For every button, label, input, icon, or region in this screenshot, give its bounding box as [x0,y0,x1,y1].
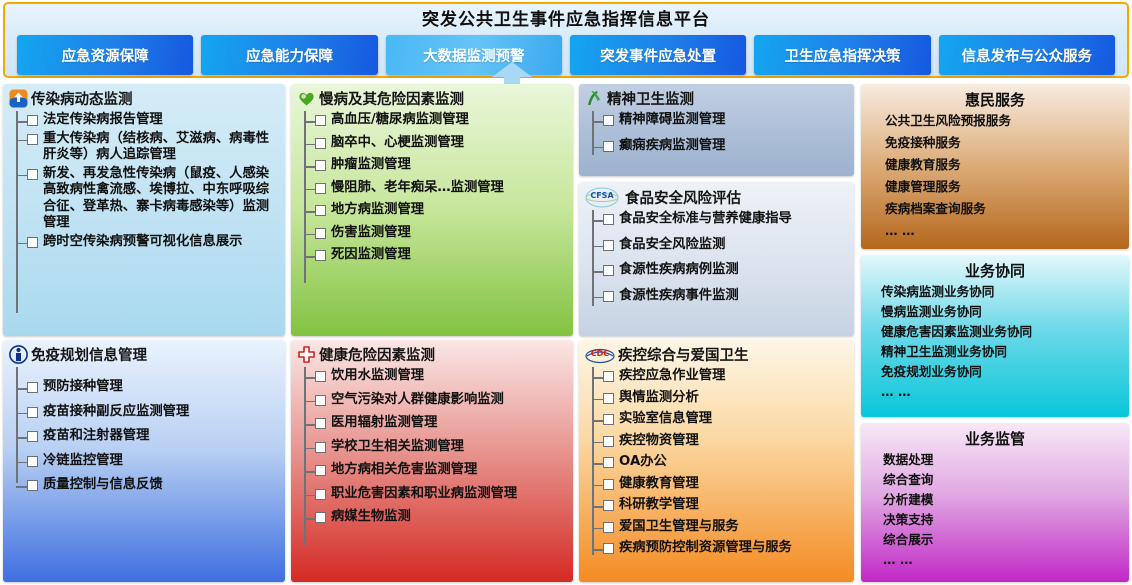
checkbox[interactable] [603,371,614,382]
tree-branch [304,144,315,146]
tree-node-immune-1[interactable]: 疫苗接种副反应监测管理 [13,404,281,421]
tree-branch [304,471,315,473]
tree-node-infectious-3[interactable]: 跨时空传染病预警可视化信息展示 [13,234,281,251]
tree-node-food-2[interactable]: 食源性疾病病例监测 [589,262,850,279]
tree-node-chronic-3[interactable]: 慢阻肺、老年痴呆…监测管理 [301,180,569,197]
panel-cdc-header: CDC 疾控综合与爱国卫生 [579,340,854,367]
panel-food-header: CFSA 食品安全风险评估 [579,182,854,210]
tree-node-risk-4[interactable]: 地方病相关危害监测管理 [301,462,569,479]
tree-branch [592,442,603,444]
panel-risk-tree: 饮用水监测管理 空气污染对人群健康影响监测 医用辐射监测管理 学校卫生相关监测管… [291,367,573,532]
tree-branch [592,485,603,487]
list-item[interactable]: 免疫接种服务 [885,135,1129,150]
checkbox[interactable] [315,489,326,500]
tree-node-cdc-7[interactable]: 爱国卫生管理与服务 [589,519,850,536]
tree-branch [16,243,27,245]
tree-node-cdc-0[interactable]: 疾控应急作业管理 [589,368,850,385]
tree-node-label: 预防接种管理 [43,379,123,396]
panel-infectious-title: 传染病动态监测 [31,88,133,109]
checkbox[interactable] [27,480,38,491]
tree-branch [304,424,315,426]
tree-node-label: 肿瘤监测管理 [331,157,411,174]
checkbox[interactable] [603,522,614,533]
list-item[interactable]: 综合展示 [883,532,1129,547]
tree-node-label: 空气污染对人群健康影响监测 [331,392,504,409]
panel-risk-header: 健康危险因素监测 [291,340,573,367]
list-item-ellipsis: … … [883,552,1129,567]
checkbox[interactable] [27,431,38,442]
tree-branch [16,413,27,415]
panel-collab-title: 业务协同 [861,255,1129,284]
tree-node-label: OA办公 [619,454,667,471]
checkbox[interactable] [315,512,326,523]
panel-risk-title: 健康危险因素监测 [319,344,435,365]
tree-node-label: 地方病相关危害监测管理 [331,462,477,479]
checkbox[interactable] [603,141,614,152]
checkbox[interactable] [603,479,614,490]
tree-node-label: 实验室信息管理 [619,411,712,428]
tree-branch [304,234,315,236]
tree-node-chronic-1[interactable]: 脑卒中、心梗监测管理 [301,135,569,152]
checkbox[interactable] [315,183,326,194]
tree-node-label: 慢阻肺、老年痴呆…监测管理 [331,180,504,197]
panel-supervise-list: 数据处理 综合查询 分析建模 决策支持 综合展示 … … [861,452,1129,567]
checkbox[interactable] [603,500,614,511]
tree-node-cdc-4[interactable]: OA办公 [589,454,850,471]
checkbox[interactable] [27,115,38,126]
tree-node-label: 疫苗和注射器管理 [43,428,149,445]
panel-immunization-information-management[interactable]: 免疫规划信息管理 预防接种管理 疫苗接种副反应监测管理 疫苗和注射器管理 [3,340,285,582]
tree-branch [592,528,603,530]
tab-info-publish-public-service[interactable]: 信息发布与公众服务 [939,35,1115,75]
tree-node-label: 新发、再发急性传染病（鼠疫、人感染高致病性禽流感、埃博拉、中东呼吸综合征、登革热… [43,166,281,232]
tree-branch [592,271,603,273]
panel-business-collaboration[interactable]: 业务协同 传染病监测业务协同 慢病监测业务协同 健康危害因素监测业务协同 精神卫… [861,255,1129,417]
panel-mental-header: 精神卫生监测 [579,84,854,111]
tree-node-infectious-2[interactable]: 新发、再发急性传染病（鼠疫、人感染高致病性禽流感、埃博拉、中东呼吸综合征、登革热… [13,166,281,232]
tree-branch [304,121,315,123]
panel-food-safety-risk-assessment[interactable]: CFSA 食品安全风险评估 食品安全标准与营养健康指导 食品安全风险监测 [579,182,854,336]
tree-node-label: 食源性疾病事件监测 [619,288,739,305]
tree-node-cdc-3[interactable]: 疾控物资管理 [589,433,850,450]
tree-branch [304,518,315,520]
tree-branch [592,463,603,465]
tree-branch [304,448,315,450]
tree-node-cdc-1[interactable]: 舆情监测分析 [589,390,850,407]
tree-node-label: 脑卒中、心梗监测管理 [331,135,464,152]
tree-branch [304,166,315,168]
checkbox[interactable] [27,134,38,145]
tree-branch [16,486,27,488]
list-item[interactable]: 慢病监测业务协同 [881,304,1129,319]
list-item[interactable]: 免疫规划业务协同 [881,364,1129,379]
checkbox[interactable] [603,240,614,251]
page-title: 突发公共卫生事件应急指挥信息平台 [5,4,1127,31]
checkbox[interactable] [27,382,38,393]
green-ribbon-icon [585,89,604,108]
tree-node-label: 精神障碍监测管理 [619,112,725,129]
checkbox[interactable] [315,115,326,126]
tree-node-cdc-8[interactable]: 疾病预防控制资源管理与服务 [589,540,850,557]
tree-branch [16,175,27,177]
list-item[interactable]: 数据处理 [883,452,1129,467]
checkbox[interactable] [315,442,326,453]
list-item[interactable]: 健康教育服务 [885,157,1129,172]
list-item[interactable]: 综合查询 [883,472,1129,487]
tree-node-risk-0[interactable]: 饮用水监测管理 [301,368,569,385]
tree-branch [592,506,603,508]
tree-node-chronic-4[interactable]: 地方病监测管理 [301,202,569,219]
tree-node-label: 职业危害因素和职业病监测管理 [331,486,517,503]
tree-node-risk-1[interactable]: 空气污染对人群健康影响监测 [301,392,569,409]
tab-emergency-resource[interactable]: 应急资源保障 [17,35,193,75]
tree-node-label: 癫痫疾病监测管理 [619,138,725,155]
public-health-emergency-platform: 突发公共卫生事件应急指挥信息平台 应急资源保障 应急能力保障 大数据监测预警 突… [0,0,1132,585]
panel-chronic-header: 慢病及其危险因素监测 [291,84,573,111]
tree-branch [592,377,603,379]
up-arrow-badge-icon [9,89,28,108]
tree-node-risk-6[interactable]: 病媒生物监测 [301,509,569,526]
tab-incident-response[interactable]: 突发事件应急处置 [570,35,746,75]
tree-node-food-3[interactable]: 食源性疾病事件监测 [589,288,850,305]
tree-branch [16,121,27,123]
checkbox[interactable] [603,115,614,126]
tree-node-infectious-1[interactable]: 重大传染病（结核病、艾滋病、病毒性肝炎等）病人追踪管理 [13,131,281,164]
panel-infectious-disease-monitoring[interactable]: 传染病动态监测 法定传染病报告管理 重大传染病（结核病、艾滋病、病毒性肝炎等）病… [3,84,285,336]
tree-node-infectious-0[interactable]: 法定传染病报告管理 [13,112,281,129]
panel-food-tree: 食品安全标准与营养健康指导 食品安全风险监测 食源性疾病病例监测 食源性疾病事件… [579,210,854,310]
tree-node-label: 食品安全风险监测 [619,237,725,254]
tree-node-label: 跨时空传染病预警可视化信息展示 [43,234,242,251]
cfsa-logo-text: CFSA [590,191,614,200]
list-item-ellipsis: … … [881,384,1129,399]
panel-mental-tree: 精神障碍监测管理 癫痫疾病监测管理 [579,111,854,160]
cfsa-logo-icon: CFSA [585,187,619,208]
tree-node-mental-0[interactable]: 精神障碍监测管理 [589,112,850,129]
panel-supervise-title: 业务监管 [861,423,1129,452]
list-item[interactable]: 疾病档案查询服务 [885,201,1129,216]
panel-cdc-title: 疾控综合与爱国卫生 [618,344,749,365]
cdc-logo-text: CDC [591,349,610,358]
tree-branch [16,388,27,390]
tree-node-risk-5[interactable]: 职业危害因素和职业病监测管理 [301,486,569,503]
checkbox[interactable] [27,169,38,180]
list-item[interactable]: 公共卫生风险预报服务 [885,113,1129,128]
tree-node-chronic-0[interactable]: 高血压/糖尿病监测管理 [301,112,569,129]
panel-collab-list: 传染病监测业务协同 慢病监测业务协同 健康危害因素监测业务协同 精神卫生监测业务… [861,284,1129,399]
tree-node-food-1[interactable]: 食品安全风险监测 [589,237,850,254]
list-item[interactable]: 健康管理服务 [885,179,1129,194]
tree-node-chronic-2[interactable]: 肿瘤监测管理 [301,157,569,174]
panel-benefit-title: 惠民服务 [861,84,1129,113]
tree-branch [592,121,603,123]
tree-node-label: 疾控物资管理 [619,433,699,450]
tree-branch [592,420,603,422]
panel-immune-tree: 预防接种管理 疫苗接种副反应监测管理 疫苗和注射器管理 冷链监控管理 [3,367,285,500]
tree-node-label: 死因监测管理 [331,247,411,264]
checkbox[interactable] [315,371,326,382]
tree-node-label: 食源性疾病病例监测 [619,262,739,279]
tree-node-cdc-2[interactable]: 实验室信息管理 [589,411,850,428]
panel-chronic-tree: 高血压/糖尿病监测管理 脑卒中、心梗监测管理 肿瘤监测管理 慢阻肺、老年痴呆…监… [291,111,573,270]
list-item[interactable]: 决策支持 [883,512,1129,527]
panel-cdc-comprehensive-patriotic-health[interactable]: CDC 疾控综合与爱国卫生 疾控应急作业管理 舆情监测分析 [579,340,854,582]
tree-node-label: 病媒生物监测 [331,509,411,526]
checkbox[interactable] [315,138,326,149]
tree-node-label: 伤害监测管理 [331,225,411,242]
tree-node-mental-1[interactable]: 癫痫疾病监测管理 [589,138,850,155]
tree-node-cdc-5[interactable]: 健康教育管理 [589,476,850,493]
checkbox[interactable] [603,543,614,554]
tab-bigdata-monitoring-alert[interactable]: 大数据监测预警 [386,35,562,75]
tree-node-label: 法定传染病报告管理 [43,112,163,129]
tree-node-label: 学校卫生相关监测管理 [331,439,464,456]
panel-immune-header: 免疫规划信息管理 [3,340,285,367]
tree-branch [304,256,315,258]
checkbox[interactable] [315,250,326,261]
panel-mental-health-monitoring[interactable]: 精神卫生监测 精神障碍监测管理 癫痫疾病监测管理 [579,84,854,176]
tree-node-chronic-5[interactable]: 伤害监测管理 [301,225,569,242]
list-item[interactable]: 分析建模 [883,492,1129,507]
header-banner: 突发公共卫生事件应急指挥信息平台 应急资源保障 应急能力保障 大数据监测预警 突… [3,2,1129,78]
checkbox[interactable] [315,228,326,239]
tree-node-label: 疾控应急作业管理 [619,368,725,385]
tab-emergency-capability[interactable]: 应急能力保障 [201,35,377,75]
tree-node-risk-2[interactable]: 医用辐射监测管理 [301,415,569,432]
tree-node-label: 质量控制与信息反馈 [43,477,163,494]
checkbox[interactable] [603,414,614,425]
tree-branch [304,189,315,191]
tree-branch [592,147,603,149]
list-item[interactable]: 传染病监测业务协同 [881,284,1129,299]
tree-node-label: 重大传染病（结核病、艾滋病、病毒性肝炎等）病人追踪管理 [43,131,281,164]
main-nav-tabs: 应急资源保障 应急能力保障 大数据监测预警 突发事件应急处置 卫生应急指挥决策 … [5,31,1127,75]
red-cross-icon [297,345,316,364]
panel-mental-title: 精神卫生监测 [607,88,694,109]
checkbox[interactable] [315,465,326,476]
tree-node-cdc-6[interactable]: 科研教学管理 [589,497,850,514]
panel-cdc-tree: 疾控应急作业管理 舆情监测分析 实验室信息管理 疾控物资管理 [579,367,854,563]
checkbox[interactable] [315,205,326,216]
tree-node-label: 科研教学管理 [619,497,699,514]
tree-branch [304,211,315,213]
tree-branch [304,401,315,403]
checkbox[interactable] [27,456,38,467]
panel-benefit-services[interactable]: 惠民服务 公共卫生风险预报服务 免疫接种服务 健康教育服务 健康管理服务 疾病档… [861,84,1129,249]
cdc-logo-icon: CDC [585,345,615,365]
tree-node-label: 高血压/糖尿病监测管理 [331,112,469,129]
panel-chronic-title: 慢病及其危险因素监测 [319,88,464,109]
tree-node-label: 疾病预防控制资源管理与服务 [619,540,792,557]
tree-node-label: 爱国卫生管理与服务 [619,519,739,536]
list-item-ellipsis: … … [885,223,1129,238]
checkbox[interactable] [27,407,38,418]
panel-infectious-header: 传染病动态监测 [3,84,285,111]
checkbox[interactable] [315,160,326,171]
tree-node-label: 健康教育管理 [619,476,699,493]
tree-node-label: 疫苗接种副反应监测管理 [43,404,189,421]
tree-branch [592,297,603,299]
checkbox[interactable] [603,436,614,447]
tree-branch [592,399,603,401]
checkbox[interactable] [603,265,614,276]
tree-branch [592,549,603,551]
tree-branch [16,437,27,439]
module-grid: 传染病动态监测 法定传染病报告管理 重大传染病（结核病、艾滋病、病毒性肝炎等）病… [3,84,1129,582]
tree-node-label: 舆情监测分析 [619,390,699,407]
tree-node-food-0[interactable]: 食品安全标准与营养健康指导 [589,211,850,228]
list-item[interactable]: 精神卫生监测业务协同 [881,344,1129,359]
tree-node-immune-3[interactable]: 冷链监控管理 [13,453,281,470]
tree-node-label: 医用辐射监测管理 [331,415,437,432]
panel-infectious-tree: 法定传染病报告管理 重大传染病（结核病、艾滋病、病毒性肝炎等）病人追踪管理 新发… [3,111,285,256]
list-item[interactable]: 健康危害因素监测业务协同 [881,324,1129,339]
tree-node-immune-2[interactable]: 疫苗和注射器管理 [13,428,281,445]
vaccine-person-icon [9,345,28,364]
tree-branch [592,246,603,248]
panel-immune-title: 免疫规划信息管理 [31,344,147,365]
tree-branch [16,140,27,142]
tree-branch [592,220,603,222]
tree-node-label: 饮用水监测管理 [331,368,424,385]
tab-command-decision[interactable]: 卫生应急指挥决策 [754,35,930,75]
tree-branch [16,462,27,464]
panel-health-risk-factor-monitoring[interactable]: 健康危险因素监测 饮用水监测管理 空气污染对人群健康影响监测 医用辐射监 [291,340,573,582]
tree-node-immune-4[interactable]: 质量控制与信息反馈 [13,477,281,494]
panel-food-title: 食品安全风险评估 [625,187,741,208]
panel-business-supervision[interactable]: 业务监管 数据处理 综合查询 分析建模 决策支持 综合展示 … … [861,423,1129,582]
tree-node-immune-0[interactable]: 预防接种管理 [13,379,281,396]
checkbox[interactable] [603,291,614,302]
checkbox[interactable] [603,457,614,468]
tree-branch [304,377,315,379]
green-heart-icon [297,89,316,108]
tree-branch [304,495,315,497]
tree-node-label: 地方病监测管理 [331,202,424,219]
checkbox[interactable] [27,237,38,248]
checkbox[interactable] [603,393,614,404]
tree-node-chronic-6[interactable]: 死因监测管理 [301,247,569,264]
tree-node-label: 冷链监控管理 [43,453,123,470]
checkbox[interactable] [315,395,326,406]
checkbox[interactable] [315,418,326,429]
panel-benefit-list: 公共卫生风险预报服务 免疫接种服务 健康教育服务 健康管理服务 疾病档案查询服务… [861,113,1129,238]
tree-node-risk-3[interactable]: 学校卫生相关监测管理 [301,439,569,456]
tree-node-label: 食品安全标准与营养健康指导 [619,211,792,228]
active-tab-pointer-stem-icon [504,75,520,84]
checkbox[interactable] [603,214,614,225]
panel-chronic-disease-monitoring[interactable]: 慢病及其危险因素监测 高血压/糖尿病监测管理 脑卒中、心梗监测管理 肿瘤 [291,84,573,336]
